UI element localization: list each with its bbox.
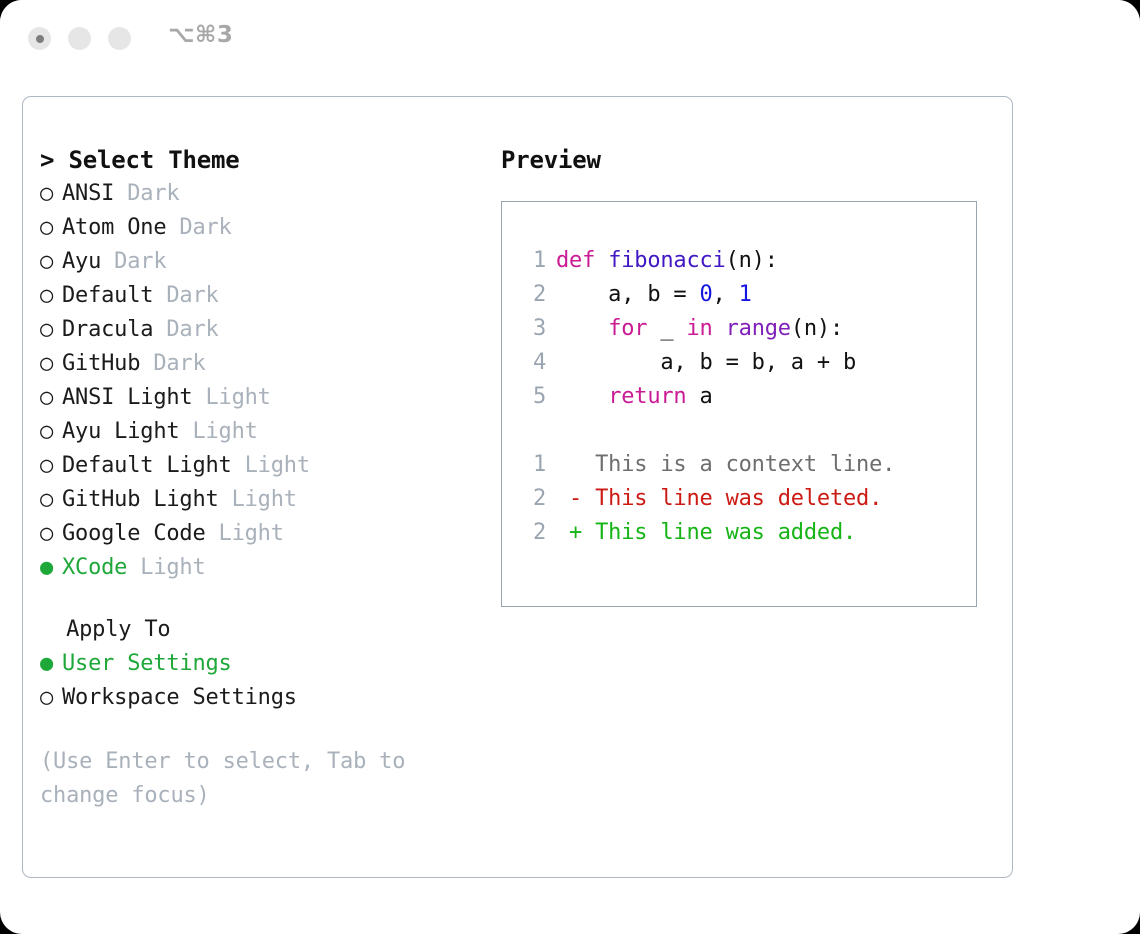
theme-option-label: Atom One: [62, 215, 166, 240]
code-token-plain: ,: [713, 282, 739, 307]
theme-option-label: Dracula: [62, 317, 153, 342]
theme-variant-tag: Dark: [101, 249, 166, 274]
diff-line: 2 + This line was added.: [520, 516, 970, 550]
code-token-fn: fibonacci: [608, 248, 725, 273]
code-token-add: + This line was added.: [556, 520, 856, 545]
code-token-plain: a: [686, 384, 712, 409]
theme-option-label: Google Code: [62, 521, 206, 546]
code-token-num: 0: [700, 282, 713, 307]
select-theme-header: > Select Theme: [40, 143, 480, 177]
line-number: 5: [520, 380, 546, 414]
theme-variant-tag: Dark: [153, 283, 218, 308]
code-token-plain: (n):: [791, 316, 843, 341]
line-number: 1: [520, 448, 546, 482]
theme-option-label: Default: [62, 283, 153, 308]
apply-to-header: Apply To: [40, 613, 480, 647]
theme-option-atom-one[interactable]: ○Atom One Dark: [40, 211, 480, 245]
keyboard-hint-text: (Use Enter to select, Tab to change focu…: [40, 745, 440, 813]
preview-code-area: 1def fibonacci(n):2 a, b = 0, 13 for _ i…: [520, 244, 970, 550]
radio-selected-icon: ●: [40, 647, 62, 681]
theme-variant-tag: Light: [179, 419, 257, 444]
code-line: 5 return a: [520, 380, 970, 414]
theme-option-ansi-light[interactable]: ○ANSI Light Light: [40, 381, 480, 415]
theme-option-dracula[interactable]: ○Dracula Dark: [40, 313, 480, 347]
theme-list: ○ANSI Dark○Atom One Dark○Ayu Dark○Defaul…: [40, 177, 480, 585]
code-line: 2 a, b = 0, 1: [520, 278, 970, 312]
code-line: 3 for _ in range(n):: [520, 312, 970, 346]
code-token-del: - This line was deleted.: [556, 486, 882, 511]
code-token-plain: [556, 384, 608, 409]
code-diff-separator: [520, 414, 970, 448]
theme-variant-tag: Light: [127, 555, 205, 580]
code-token-num: 1: [739, 282, 752, 307]
theme-option-xcode[interactable]: ●XCode Light: [40, 551, 480, 585]
code-token-kw: def: [556, 248, 608, 273]
radio-unselected-icon: ○: [40, 347, 62, 381]
theme-option-label: ANSI Light: [62, 385, 192, 410]
theme-option-label: Default Light: [62, 453, 232, 478]
radio-unselected-icon: ○: [40, 449, 62, 483]
code-token-kw: return: [608, 384, 686, 409]
code-token-kw: in: [686, 316, 712, 341]
apply-to-option-label: User Settings: [62, 651, 232, 676]
apply-to-list: ●User Settings○Workspace Settings: [40, 647, 480, 715]
theme-variant-tag: Dark: [153, 317, 218, 342]
apply-to-option-label: Workspace Settings: [62, 685, 297, 710]
theme-variant-tag: Light: [206, 521, 284, 546]
code-token-plain: [713, 316, 726, 341]
code-token-plain: _: [647, 316, 686, 341]
preview-column: Preview 1def fibonacci(n):2 a, b = 0, 13…: [501, 143, 1001, 607]
theme-option-google-code[interactable]: ○Google Code Light: [40, 517, 480, 551]
code-token-call: range: [726, 316, 791, 341]
code-token-kw: for: [608, 316, 647, 341]
line-number: 2: [520, 482, 546, 516]
line-number: 2: [520, 516, 546, 550]
radio-unselected-icon: ○: [40, 313, 62, 347]
theme-option-github[interactable]: ○GitHub Dark: [40, 347, 480, 381]
theme-option-label: GitHub: [62, 351, 140, 376]
theme-variant-tag: Dark: [166, 215, 231, 240]
radio-unselected-icon: ○: [40, 245, 62, 279]
theme-option-label: XCode: [62, 555, 127, 580]
code-sample: 1def fibonacci(n):2 a, b = 0, 13 for _ i…: [520, 244, 970, 414]
radio-unselected-icon: ○: [40, 381, 62, 415]
diff-sample: 1 This is a context line.2 - This line w…: [520, 448, 970, 550]
code-token-plain: [556, 316, 608, 341]
theme-list-column: > Select Theme ○ANSI Dark○Atom One Dark○…: [40, 143, 480, 813]
theme-option-label: Ayu: [62, 249, 101, 274]
radio-unselected-icon: ○: [40, 681, 62, 715]
theme-option-label: GitHub Light: [62, 487, 219, 512]
maximize-dot[interactable]: [108, 27, 131, 50]
diff-line: 2 - This line was deleted.: [520, 482, 970, 516]
radio-unselected-icon: ○: [40, 211, 62, 245]
diff-line: 1 This is a context line.: [520, 448, 970, 482]
radio-unselected-icon: ○: [40, 517, 62, 551]
window-titlebar: ⌥⌘3: [0, 0, 1140, 78]
line-number: 2: [520, 278, 546, 312]
preview-title: Preview: [501, 143, 1001, 177]
line-number: 1: [520, 244, 546, 278]
code-line: 1def fibonacci(n):: [520, 244, 970, 278]
theme-option-label: Ayu Light: [62, 419, 179, 444]
theme-option-ayu-light[interactable]: ○Ayu Light Light: [40, 415, 480, 449]
radio-unselected-icon: ○: [40, 177, 62, 211]
theme-option-default-light[interactable]: ○Default Light Light: [40, 449, 480, 483]
preview-box: 1def fibonacci(n):2 a, b = 0, 13 for _ i…: [501, 201, 977, 607]
theme-option-label: ANSI: [62, 181, 114, 206]
minimize-dot[interactable]: [68, 27, 91, 50]
theme-picker-panel: > Select Theme ○ANSI Dark○Atom One Dark○…: [22, 96, 1013, 878]
app-window: ⌥⌘3 > Select Theme ○ANSI Dark○Atom One D…: [0, 0, 1140, 934]
close-dot[interactable]: [28, 27, 51, 50]
radio-unselected-icon: ○: [40, 483, 62, 517]
code-token-plain: (n):: [726, 248, 778, 273]
apply-to-option-workspace-settings[interactable]: ○Workspace Settings: [40, 681, 480, 715]
code-token-ctx: This is a context line.: [556, 452, 895, 477]
theme-variant-tag: Light: [192, 385, 270, 410]
code-line: 4 a, b = b, a + b: [520, 346, 970, 380]
theme-variant-tag: Dark: [140, 351, 205, 376]
code-token-plain: a, b =: [556, 282, 700, 307]
keyboard-shortcut-label: ⌥⌘3: [168, 22, 233, 48]
code-token-plain: a, b = b, a + b: [556, 350, 856, 375]
theme-option-ansi[interactable]: ○ANSI Dark: [40, 177, 480, 211]
line-number: 4: [520, 346, 546, 380]
theme-option-default[interactable]: ○Default Dark: [40, 279, 480, 313]
theme-option-github-light[interactable]: ○GitHub Light Light: [40, 483, 480, 517]
radio-unselected-icon: ○: [40, 415, 62, 449]
radio-unselected-icon: ○: [40, 279, 62, 313]
theme-variant-tag: Dark: [114, 181, 179, 206]
theme-option-ayu[interactable]: ○Ayu Dark: [40, 245, 480, 279]
theme-variant-tag: Light: [219, 487, 297, 512]
apply-to-option-user-settings[interactable]: ●User Settings: [40, 647, 480, 681]
radio-selected-icon: ●: [40, 551, 62, 585]
line-number: 3: [520, 312, 546, 346]
theme-variant-tag: Light: [232, 453, 310, 478]
